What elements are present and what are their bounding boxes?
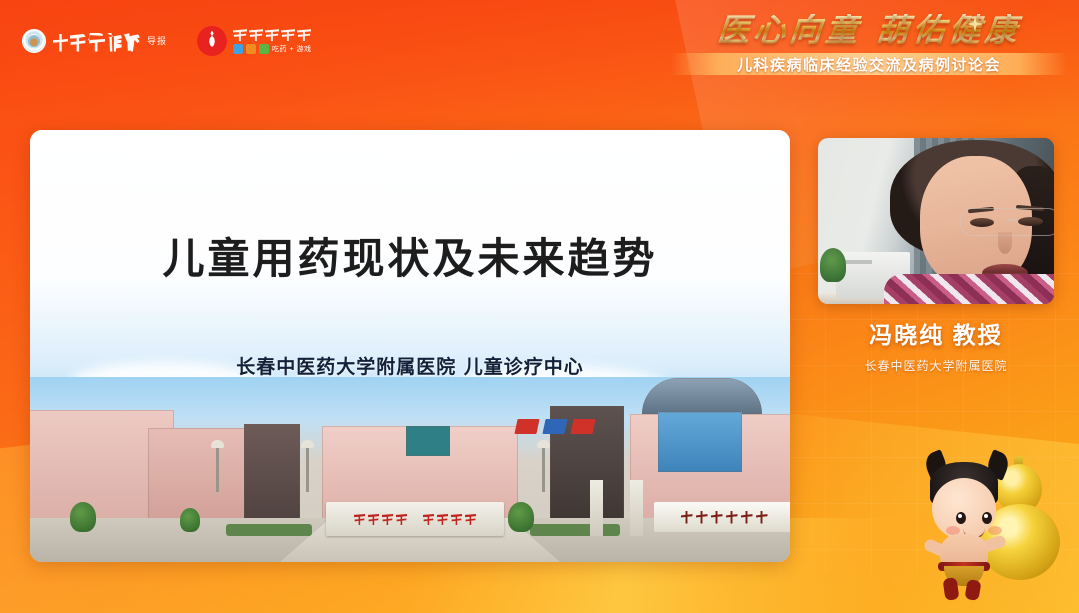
mascot-eye bbox=[982, 512, 992, 524]
campus-sign-text-icon bbox=[354, 513, 407, 525]
campus-stone-sign bbox=[326, 502, 504, 536]
video-plant bbox=[820, 248, 846, 282]
mascot-cheek bbox=[988, 526, 1002, 535]
event-subtitle: 儿科疾病临床经验交流及病例讨论会 bbox=[737, 54, 1001, 75]
flag-icon bbox=[542, 419, 567, 434]
campus-glass-facade bbox=[658, 412, 742, 472]
speaker-video-feed[interactable] bbox=[818, 138, 1054, 304]
sponsor-logo: 吃药 + 游戏 bbox=[197, 26, 311, 56]
sponsor-wordmark: 吃药 + 游戏 bbox=[233, 28, 311, 54]
speaker-portrait bbox=[890, 140, 1054, 304]
chip-blue-icon bbox=[233, 44, 243, 54]
presentation-slide[interactable]: 儿童用药现状及未来趋势 长春中医药大学附属医院 儿童诊疗中心 长春中医药大学附属… bbox=[30, 130, 790, 562]
campus-photo bbox=[30, 377, 790, 562]
mascot-face bbox=[932, 478, 996, 540]
speaker-nose bbox=[998, 232, 1012, 254]
mascot-leg bbox=[964, 579, 981, 601]
sponsor-tagline-row: 吃药 + 游戏 bbox=[233, 44, 311, 54]
hedge bbox=[226, 524, 312, 536]
medical-association-seal-icon bbox=[22, 29, 46, 53]
campus-dome bbox=[642, 378, 762, 414]
organizer-logo: 导报 bbox=[22, 29, 167, 53]
sponsor-tagline: 吃药 + 游戏 bbox=[272, 44, 311, 54]
tree bbox=[508, 502, 534, 532]
slide-affiliation-line-1: 长春中医药大学附属医院 儿童诊疗中心 bbox=[30, 352, 790, 379]
mascot-eye bbox=[956, 512, 966, 524]
organizer-wordmark-icon bbox=[53, 31, 140, 52]
campus-gate-pillar bbox=[590, 480, 603, 536]
logo-bar: 导报 吃药 + 游戏 bbox=[22, 26, 312, 56]
flag-icon bbox=[514, 419, 539, 434]
mascot-character bbox=[920, 462, 1012, 594]
speaker-affiliation: 长春中医药大学附属医院 bbox=[818, 357, 1054, 374]
flag-icon bbox=[570, 419, 595, 434]
flag-row bbox=[516, 419, 594, 434]
street-lamp-icon bbox=[216, 446, 219, 492]
organizer-logo-suffix: 导报 bbox=[147, 34, 167, 49]
event-banner: 医心向童 葫佑健康 儿科疾病临床经验交流及病例讨论会 bbox=[659, 14, 1079, 75]
hedge bbox=[530, 524, 620, 536]
campus-gate-pillar bbox=[630, 480, 643, 536]
campus-building-accent bbox=[406, 426, 450, 456]
slide-title: 儿童用药现状及未来趋势 bbox=[30, 225, 790, 286]
tree bbox=[70, 502, 96, 532]
event-title: 医心向童 葫佑健康 bbox=[658, 14, 1079, 46]
sparkle-icon bbox=[967, 16, 983, 32]
chip-green-icon bbox=[259, 44, 269, 54]
speaker-floral-top bbox=[884, 274, 1054, 304]
sponsor-name-icon bbox=[233, 28, 311, 41]
chip-orange-icon bbox=[246, 44, 256, 54]
campus-gate-sign bbox=[654, 502, 790, 532]
speaker-name: 冯晓纯 教授 bbox=[818, 316, 1054, 350]
event-subtitle-band: 儿科疾病临床经验交流及病例讨论会 bbox=[671, 53, 1067, 75]
speaker-credit: 冯晓纯 教授 长春中医药大学附属医院 bbox=[818, 316, 1054, 374]
gourd-circle-icon bbox=[197, 26, 227, 56]
campus-gate-text-icon bbox=[681, 511, 768, 524]
street-lamp-icon bbox=[542, 446, 545, 492]
campus-sign-text2-icon bbox=[423, 513, 476, 525]
webinar-broadcast-stage: 导报 吃药 + 游戏 医心向童 葫佑健康 儿科疾病临床经验交 bbox=[0, 0, 1079, 613]
speaker-face bbox=[920, 156, 1032, 288]
tree bbox=[180, 508, 200, 532]
street-lamp-icon bbox=[306, 446, 309, 492]
calabash-boy-mascot bbox=[920, 440, 1070, 600]
